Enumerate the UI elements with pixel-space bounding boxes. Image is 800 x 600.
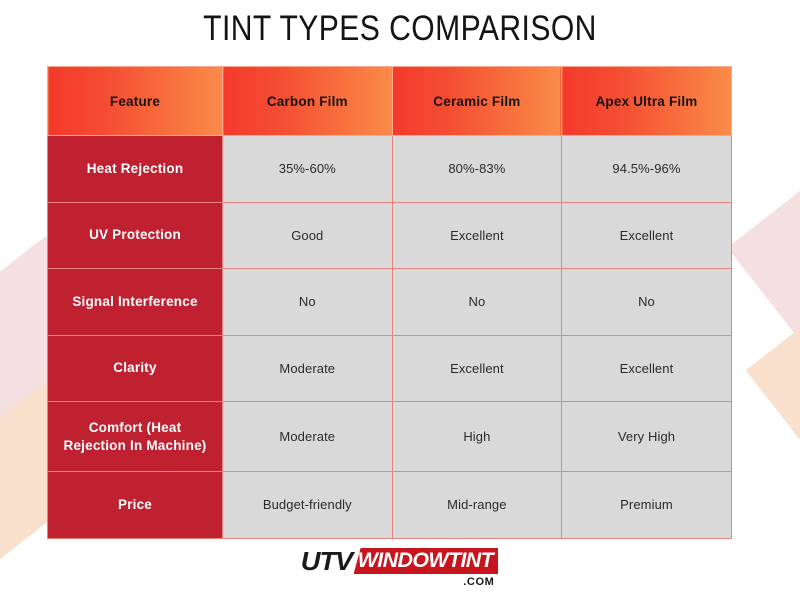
logo-windowtint-text: WINDOWTINT xyxy=(357,550,492,572)
cell-apex: 94.5%-96% xyxy=(562,136,732,203)
column-header-feature: Feature xyxy=(48,67,223,136)
table-row: Heat Rejection 35%-60% 80%-83% 94.5%-96% xyxy=(48,136,732,203)
cell-carbon: Budget-friendly xyxy=(223,472,393,539)
cell-apex: No xyxy=(562,269,732,336)
cell-ceramic: Excellent xyxy=(392,202,562,269)
tint-comparison-table: Feature Carbon Film Ceramic Film Apex Ul… xyxy=(47,66,732,539)
cell-carbon: Moderate xyxy=(223,402,393,472)
feature-label: UV Protection xyxy=(48,202,223,269)
cell-ceramic: No xyxy=(392,269,562,336)
table-row: Clarity Moderate Excellent Excellent xyxy=(48,335,732,402)
cell-carbon: Good xyxy=(223,202,393,269)
cell-ceramic: High xyxy=(392,402,562,472)
cell-apex: Excellent xyxy=(562,202,732,269)
table-header: Feature Carbon Film Ceramic Film Apex Ul… xyxy=(48,67,732,136)
cell-carbon: 35%-60% xyxy=(223,136,393,203)
decor-shape-peach-right xyxy=(746,253,800,458)
cell-apex: Premium xyxy=(562,472,732,539)
logo-dotcom-text: .COM xyxy=(302,577,499,588)
brand-logo: UTV WINDOWTINT .COM xyxy=(0,548,800,590)
table-header-row: Feature Carbon Film Ceramic Film Apex Ul… xyxy=(48,67,732,136)
feature-label: Signal Interference xyxy=(48,269,223,336)
feature-label: Comfort (Heat Rejection In Machine) xyxy=(48,402,223,472)
comparison-table-container: Feature Carbon Film Ceramic Film Apex Ul… xyxy=(47,66,731,539)
cell-carbon: No xyxy=(223,269,393,336)
page-title: TINT TYPES COMPARISON xyxy=(56,9,744,49)
logo-inner: UTV WINDOWTINT .COM xyxy=(302,548,499,588)
logo-wordmark-row: UTV WINDOWTINT xyxy=(302,548,499,574)
logo-red-banner: WINDOWTINT xyxy=(354,548,499,574)
table-body: Heat Rejection 35%-60% 80%-83% 94.5%-96%… xyxy=(48,136,732,539)
feature-label: Clarity xyxy=(48,335,223,402)
table-row: UV Protection Good Excellent Excellent xyxy=(48,202,732,269)
table-row: Price Budget-friendly Mid-range Premium xyxy=(48,472,732,539)
cell-apex: Very High xyxy=(562,402,732,472)
feature-label: Price xyxy=(48,472,223,539)
cell-apex: Excellent xyxy=(562,335,732,402)
feature-label: Heat Rejection xyxy=(48,136,223,203)
column-header-carbon-film: Carbon Film xyxy=(223,67,393,136)
table-row: Comfort (Heat Rejection In Machine) Mode… xyxy=(48,402,732,472)
cell-ceramic: Excellent xyxy=(392,335,562,402)
cell-ceramic: Mid-range xyxy=(392,472,562,539)
logo-utv-text: UTV xyxy=(300,548,355,574)
decor-shape-pink-right xyxy=(727,121,800,340)
table-row: Signal Interference No No No xyxy=(48,269,732,336)
cell-carbon: Moderate xyxy=(223,335,393,402)
column-header-apex-ultra-film: Apex Ultra Film xyxy=(562,67,732,136)
column-header-ceramic-film: Ceramic Film xyxy=(392,67,562,136)
cell-ceramic: 80%-83% xyxy=(392,136,562,203)
